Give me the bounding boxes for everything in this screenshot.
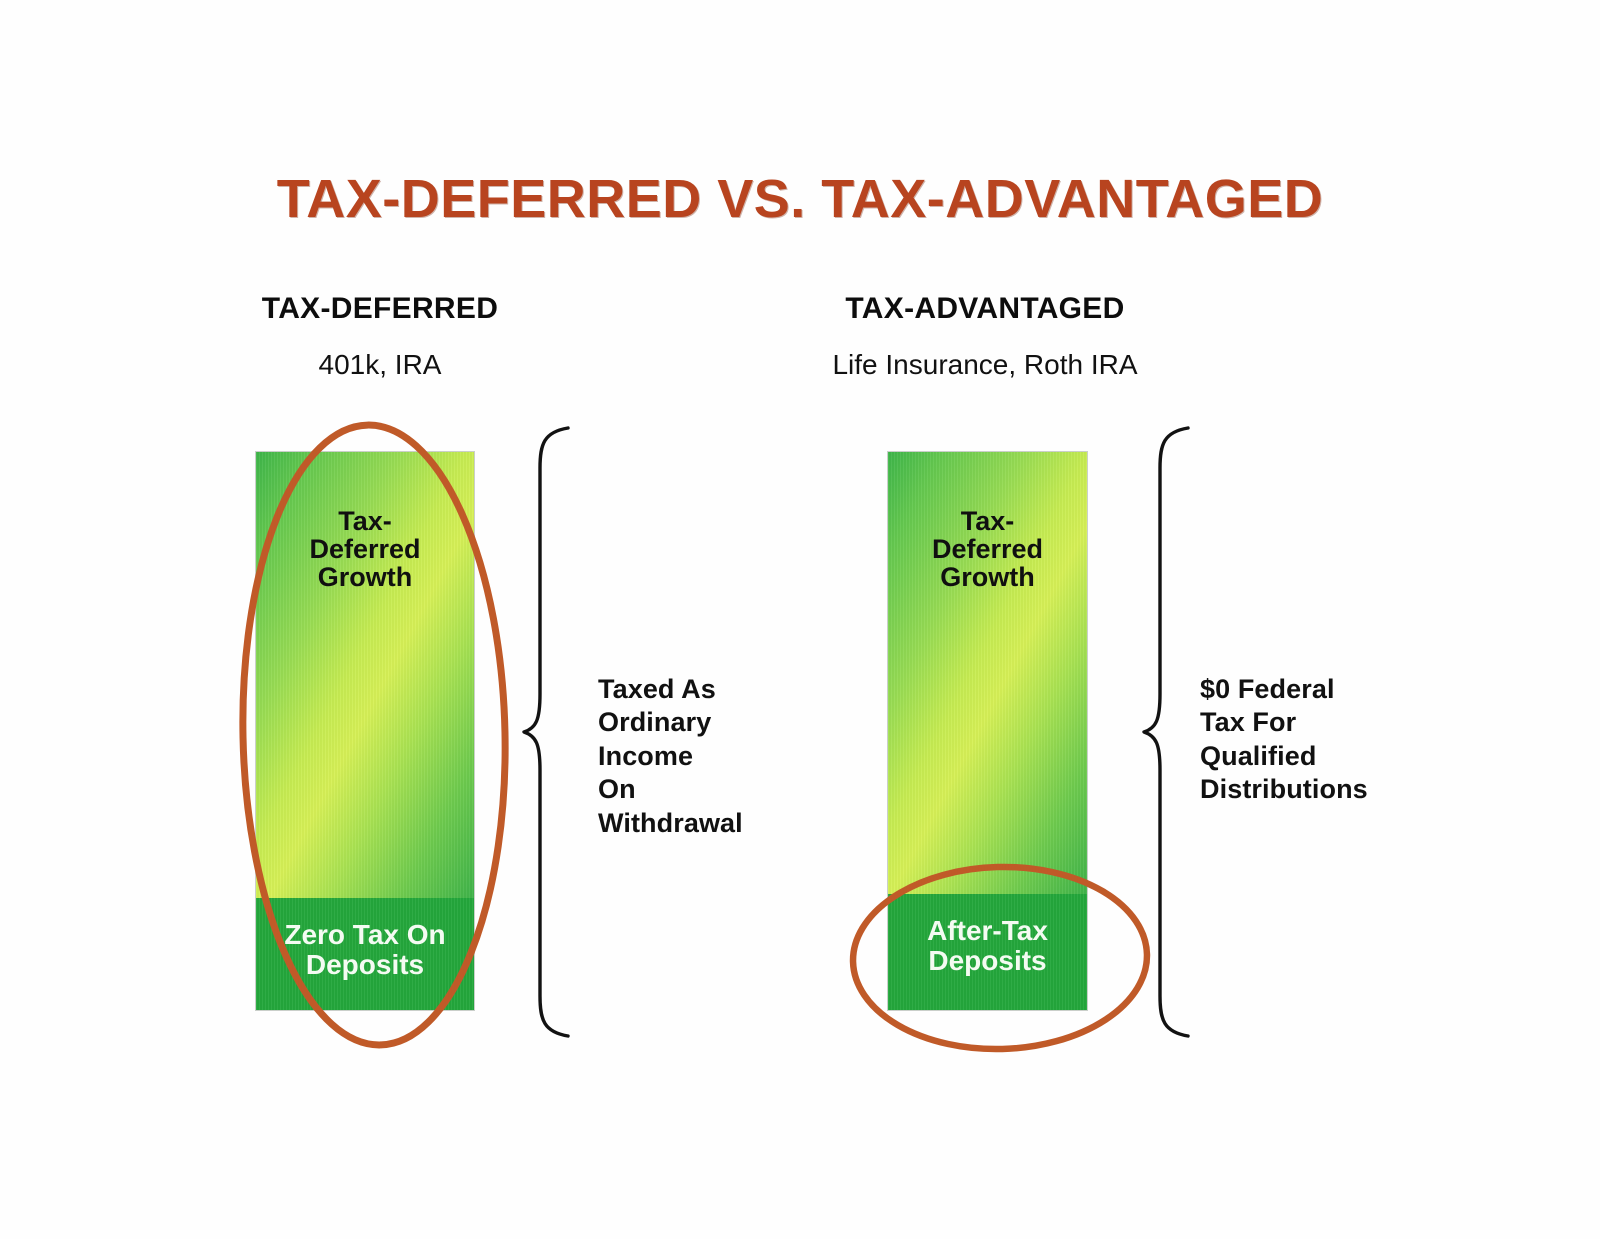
brace-left-icon bbox=[522, 424, 594, 1040]
growth-segment-label-tax-advantaged: Tax- Deferred Growth bbox=[888, 508, 1087, 591]
column-heading-tax-advantaged: TAX-ADVANTAGED bbox=[735, 292, 1235, 326]
column-subheading-tax-advantaged: Life Insurance, Roth IRA bbox=[735, 349, 1235, 381]
deposit-segment-label-tax-deferred: Zero Tax On Deposits bbox=[256, 920, 474, 980]
bar-tax-advantaged: Tax- Deferred Growth After-Tax Deposits bbox=[888, 452, 1087, 1010]
diagram-canvas: TAX-DEFERRED VS. TAX-ADVANTAGED TAX-DEFE… bbox=[0, 0, 1600, 1239]
growth-segment-label-tax-deferred: Tax- Deferred Growth bbox=[256, 508, 474, 591]
brace-note-tax-deferred: Taxed As Ordinary Income On Withdrawal bbox=[598, 673, 898, 840]
brace-right-icon bbox=[1142, 424, 1214, 1040]
column-subheading-tax-deferred: 401k, IRA bbox=[130, 349, 630, 381]
page-title: TAX-DEFERRED VS. TAX-ADVANTAGED bbox=[0, 168, 1600, 230]
brace-note-tax-advantaged: $0 Federal Tax For Qualified Distributio… bbox=[1200, 673, 1530, 807]
deposit-segment-label-tax-advantaged: After-Tax Deposits bbox=[888, 916, 1087, 976]
bar-tax-deferred: Tax- Deferred Growth Zero Tax On Deposit… bbox=[256, 452, 474, 1010]
column-heading-tax-deferred: TAX-DEFERRED bbox=[130, 292, 630, 326]
